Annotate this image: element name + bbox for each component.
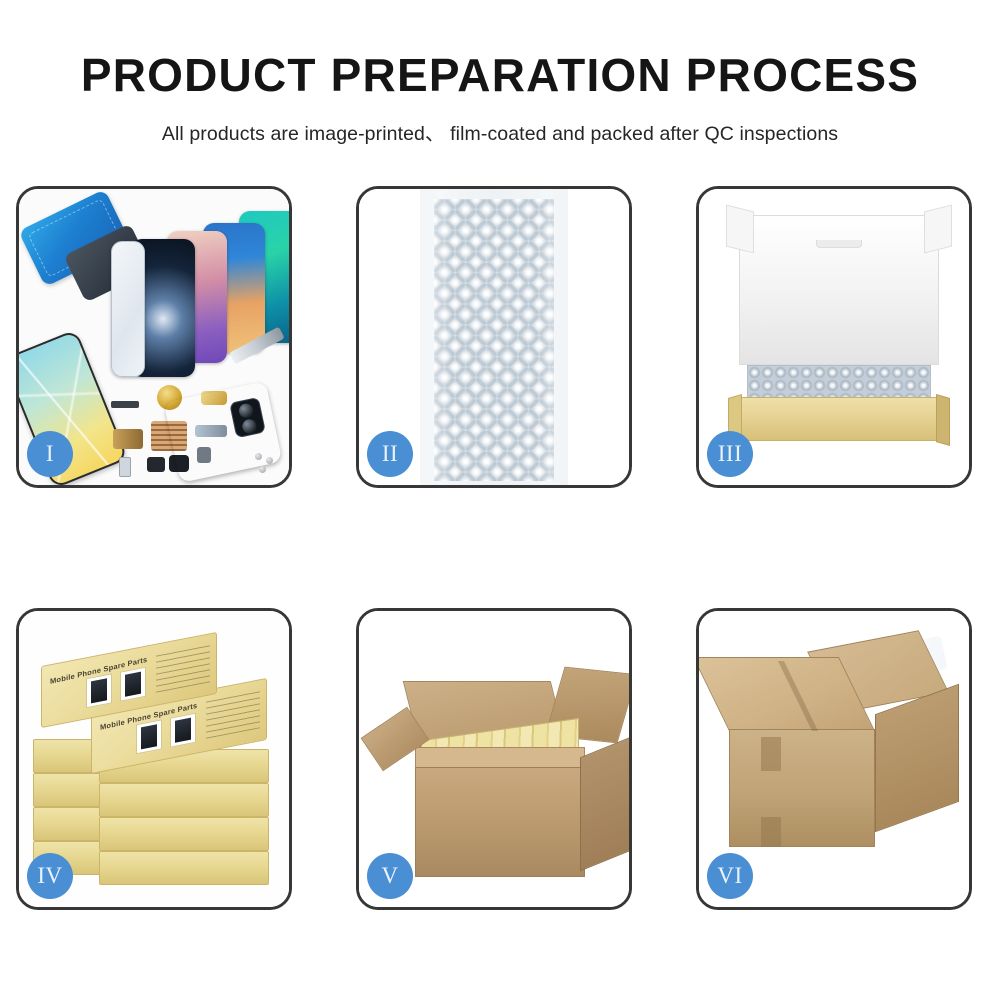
process-step-grid: I II — [16, 186, 978, 910]
page-title: PRODUCT PREPARATION PROCESS — [0, 48, 1000, 102]
page-subtitle: All products are image-printed、 film-coa… — [0, 117, 1000, 146]
sim-tray-icon — [119, 457, 131, 477]
step-panel-1: I — [16, 186, 292, 488]
box-window-right — [120, 667, 146, 702]
phone-screen-row — [111, 211, 289, 381]
tempered-glass-icon — [111, 241, 145, 377]
screws-icon — [255, 453, 281, 475]
kraft-tray-icon — [737, 397, 941, 441]
step-panel-2: II — [356, 186, 632, 488]
box-lid-icon — [739, 215, 939, 365]
carton-front — [729, 729, 875, 847]
step-badge-6: VI — [707, 853, 753, 899]
packing-tape-upper — [761, 737, 781, 771]
carton-body — [415, 767, 585, 877]
step-badge-5: V — [367, 853, 413, 899]
flex-cable-icon — [113, 429, 143, 449]
lid-notch — [816, 240, 862, 248]
rear-camera-icon — [229, 397, 266, 438]
step-badge-3: III — [707, 431, 753, 477]
product-preparation-infographic: PRODUCT PREPARATION PROCESS All products… — [0, 0, 1000, 1000]
step-badge-2: II — [367, 431, 413, 477]
step-panel-3: III — [696, 186, 972, 488]
button-part-icon — [147, 457, 165, 472]
carton-side — [875, 684, 959, 833]
step-panel-4: Mobile Phone Spare Parts Mobile Phone Sp… — [16, 608, 292, 910]
box-spec-lines — [206, 688, 260, 738]
box-window-left — [136, 719, 162, 754]
header: PRODUCT PREPARATION PROCESS All products… — [0, 0, 1000, 146]
box-spec-lines — [156, 642, 210, 692]
step-badge-4: IV — [27, 853, 73, 899]
stacked-box — [99, 851, 269, 885]
bubble-texture — [434, 199, 554, 481]
box-window-right — [170, 713, 196, 748]
earpiece-part-icon — [111, 401, 139, 408]
packing-tape-lower — [761, 817, 781, 847]
step-panel-5: V — [356, 608, 632, 910]
bubble-fill-icon — [747, 365, 931, 399]
bubble-wrap-icon — [420, 189, 568, 485]
step-badge-1: I — [27, 431, 73, 477]
box-stack: Mobile Phone Spare Parts Mobile Phone Sp… — [33, 645, 283, 885]
stacked-box — [99, 817, 269, 851]
box-window-left — [86, 673, 112, 708]
step-panel-6: VI — [696, 608, 972, 910]
stacked-box — [99, 783, 269, 817]
